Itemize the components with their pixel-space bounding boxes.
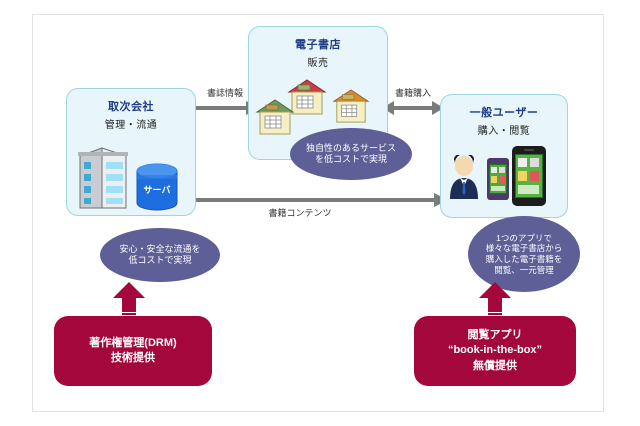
up-arrow-app: [477, 282, 513, 320]
bubble-store: 独自性のあるサービス を低コストで実現: [290, 128, 412, 180]
tablet-icon: [512, 146, 546, 206]
panel-store-subtitle: 販売: [248, 54, 388, 69]
offering-box-drm[interactable]: 著作権管理(DRM) 技術提供: [54, 316, 212, 386]
panel-user-subtitle: 購入・閲覧: [440, 122, 568, 137]
bubble-user: 1つのアプリで 様々な電子書店から 購入した電子書籍を 閲覧、一元管理: [468, 216, 580, 292]
diagram-canvas: 書誌情報 書籍購入 書籍コンテンツ 取次会社 管理・流通: [0, 0, 640, 426]
panel-agency-title: 取次会社: [66, 98, 196, 114]
flow-label-content: 書籍コンテンツ: [240, 206, 360, 219]
server-cylinder-icon: サーバ: [136, 163, 178, 211]
smartphone-icon: [487, 158, 509, 200]
flow-arrow-purchase: [382, 98, 444, 118]
panel-store-title: 電子書店: [248, 36, 388, 52]
up-arrow-drm: [111, 282, 147, 320]
server-label: サーバ: [136, 183, 178, 196]
building-icon: [76, 142, 130, 210]
panel-agency-subtitle: 管理・流通: [66, 116, 196, 131]
shop-icon-green: [253, 98, 297, 136]
panel-user-title: 一般ユーザー: [440, 104, 568, 120]
person-icon: [447, 155, 481, 199]
flow-label-purchase: 書籍購入: [381, 86, 445, 99]
shop-icon-orange: [330, 88, 372, 124]
bubble-agency: 安心・安全な流通を 低コストで実現: [100, 228, 220, 282]
offering-box-app[interactable]: 閲覧アプリ “book-in-the-box” 無償提供: [414, 316, 576, 386]
